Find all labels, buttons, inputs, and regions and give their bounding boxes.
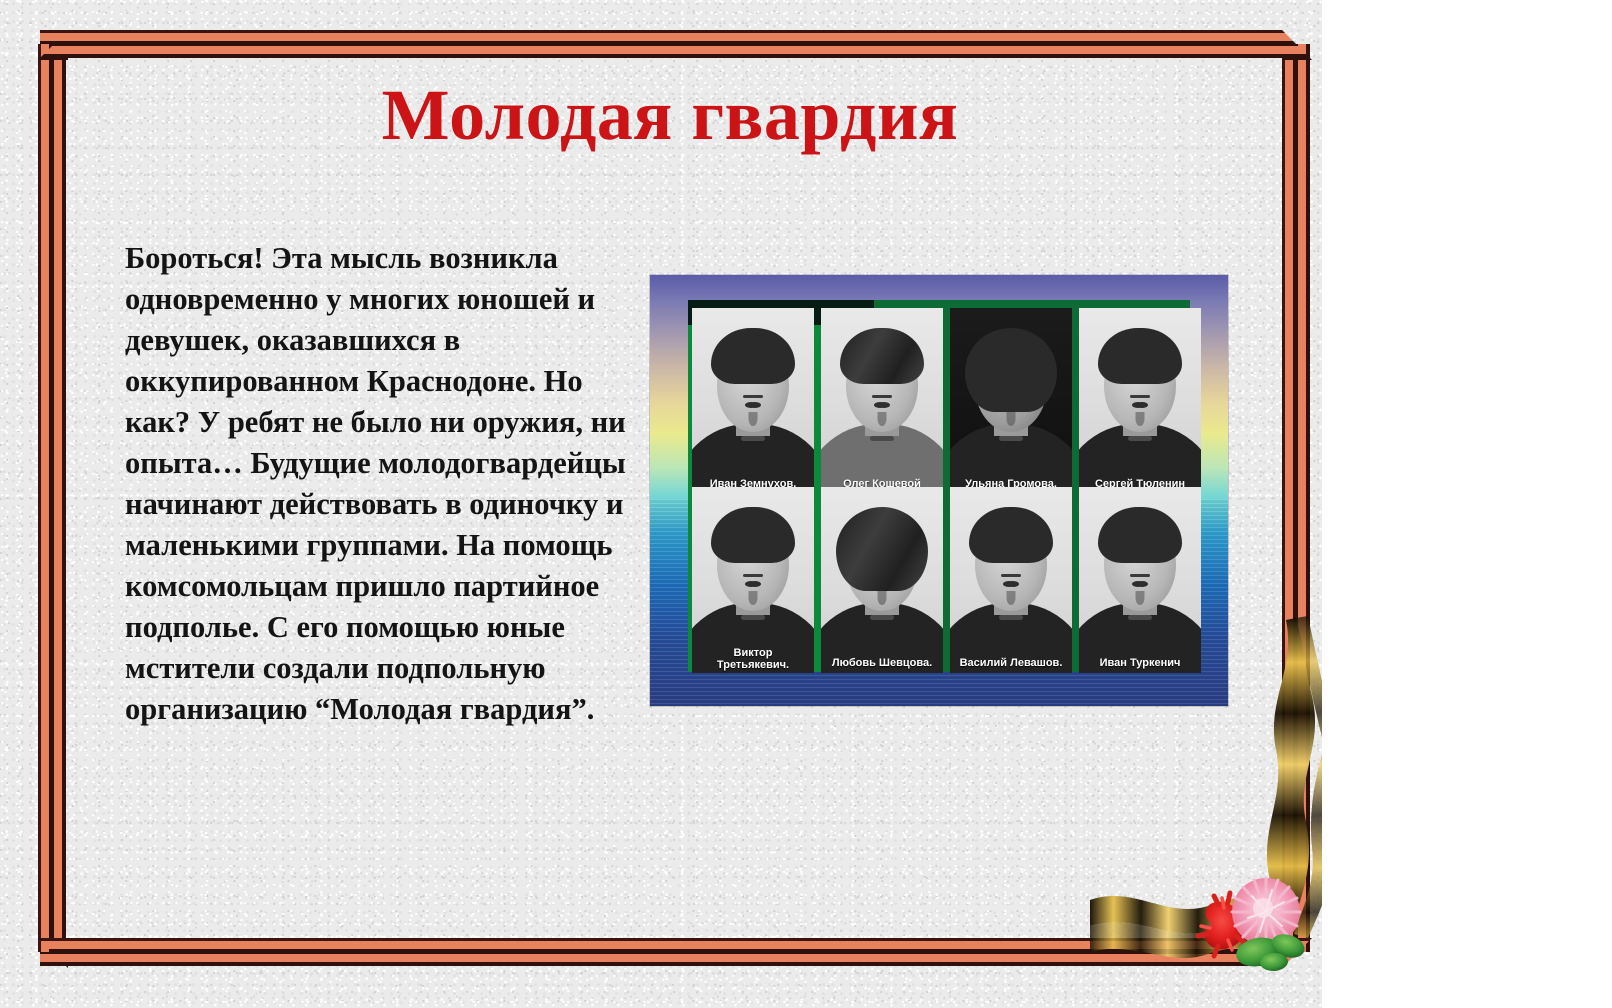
portrait-eye-right [745, 402, 757, 408]
portrait-ivan-zemnukhov: Иван Земнухов. [692, 308, 814, 494]
portrait-lyubov-shevtsova: Любовь Шевцова. [821, 487, 943, 673]
portrait-brow-right [872, 395, 888, 398]
portrait-brow-right [1130, 395, 1146, 398]
frame-border-top [40, 30, 1282, 58]
portrait-mouth [1128, 436, 1152, 441]
portrait-nose [749, 412, 758, 426]
portrait-hair [965, 328, 1057, 412]
portrait-nose [1007, 412, 1016, 426]
portrait-oleg-koshevoy: Олег Кошевой [821, 308, 943, 494]
portrait-hair [836, 507, 928, 591]
portrait-mouth [870, 436, 894, 441]
portrait-name-label: Иван Туркенич [1079, 657, 1201, 669]
portrait-mouth [741, 436, 765, 441]
young-guard-members-photo: Иван Земнухов. Олег Кошевой [650, 275, 1228, 706]
portrait-mouth [1128, 615, 1152, 620]
portrait-eye-right [874, 402, 886, 408]
portrait-mouth [999, 436, 1023, 441]
portrait-name-label: Любовь Шевцова. [821, 657, 943, 669]
portrait-brow-right [743, 574, 759, 577]
portrait-ulyana-gromova: Ульяна Громова. [950, 308, 1072, 494]
portrait-row-bottom: Виктор Третьякевич. Любовь Шевцова. [692, 487, 1201, 673]
portrait-mouth [741, 615, 765, 620]
portrait-sergey-tyulenin: Сергей Тюленин [1079, 308, 1201, 494]
portrait-eye-right [1132, 402, 1144, 408]
portrait-viktor-tretyakevich: Виктор Третьякевич. [692, 487, 814, 673]
frame-border-right [1282, 44, 1310, 952]
portrait-nose [1136, 412, 1145, 426]
portrait-brow-right [1130, 574, 1146, 577]
slide-title: Молодая гвардия [120, 78, 1220, 154]
portrait-row-top: Иван Земнухов. Олег Кошевой [692, 308, 1201, 494]
portrait-ivan-turkenich: Иван Туркенич [1079, 487, 1201, 673]
portrait-mouth [999, 615, 1023, 620]
portrait-brow-right [1001, 574, 1017, 577]
portrait-brow-right [743, 395, 759, 398]
portrait-eye-right [1132, 581, 1144, 587]
portrait-nose [878, 591, 887, 605]
portrait-eye-right [1003, 581, 1015, 587]
frame-border-bottom [40, 938, 1282, 966]
slide-body-paragraph: Бороться! Эта мысль возникла одновременн… [125, 238, 635, 730]
portrait-vasiliy-levashov: Василий Левашов. [950, 487, 1072, 673]
slide-canvas: Молодая гвардия Бороться! Эта мысль возн… [0, 0, 1322, 1008]
portrait-nose [749, 591, 758, 605]
portrait-nose [1136, 591, 1145, 605]
portrait-name-label: Виктор Третьякевич. [692, 647, 814, 671]
portrait-nose [1007, 591, 1016, 605]
portrait-mouth [870, 615, 894, 620]
portrait-nose [878, 412, 887, 426]
portrait-name-label: Василий Левашов. [950, 657, 1072, 669]
frame-border-left [38, 44, 66, 952]
portrait-eye-right [745, 581, 757, 587]
